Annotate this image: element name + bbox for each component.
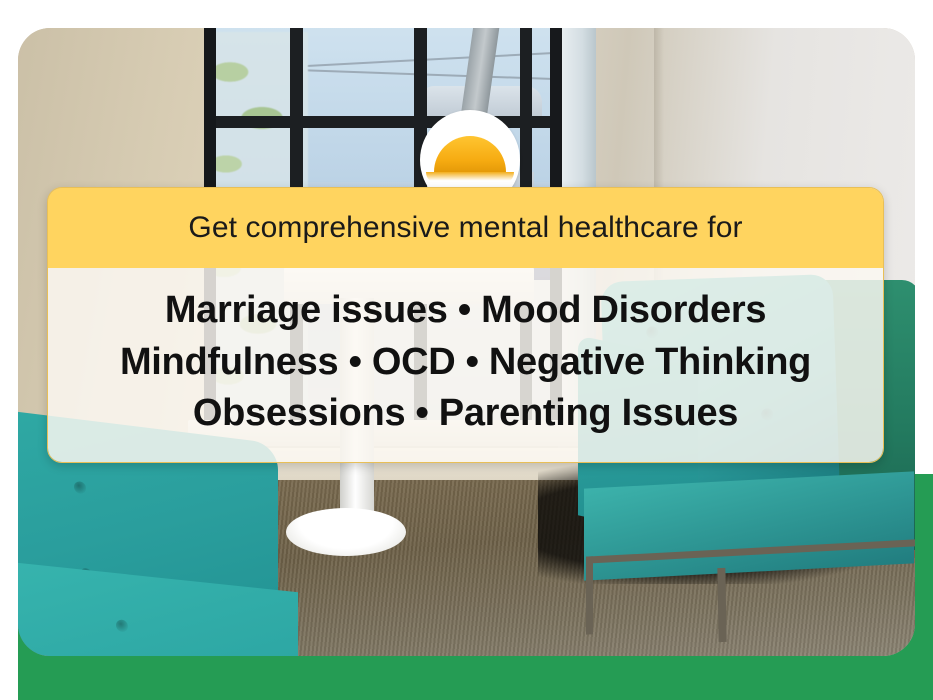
window-mullion-h1 [204,116,568,128]
sun-icon [434,136,506,172]
service-line-3: Obsessions • Parenting Issues [193,389,738,438]
promo-card: Get comprehensive mental healthcare for … [47,187,884,463]
pedestal-table-base [286,508,406,556]
armchair-leg [717,568,726,642]
promo-card-body: Marriage issues • Mood Disorders Mindful… [48,268,883,462]
service-line-1: Marriage issues • Mood Disorders [165,286,766,335]
promo-headline: Get comprehensive mental healthcare for [188,211,742,245]
sun-glow-icon [426,172,514,184]
tuft-button [116,619,128,632]
promo-card-header: Get comprehensive mental healthcare for [48,188,883,268]
service-line-2: Mindfulness • OCD • Negative Thinking [120,338,811,387]
tuft-button [74,481,86,494]
